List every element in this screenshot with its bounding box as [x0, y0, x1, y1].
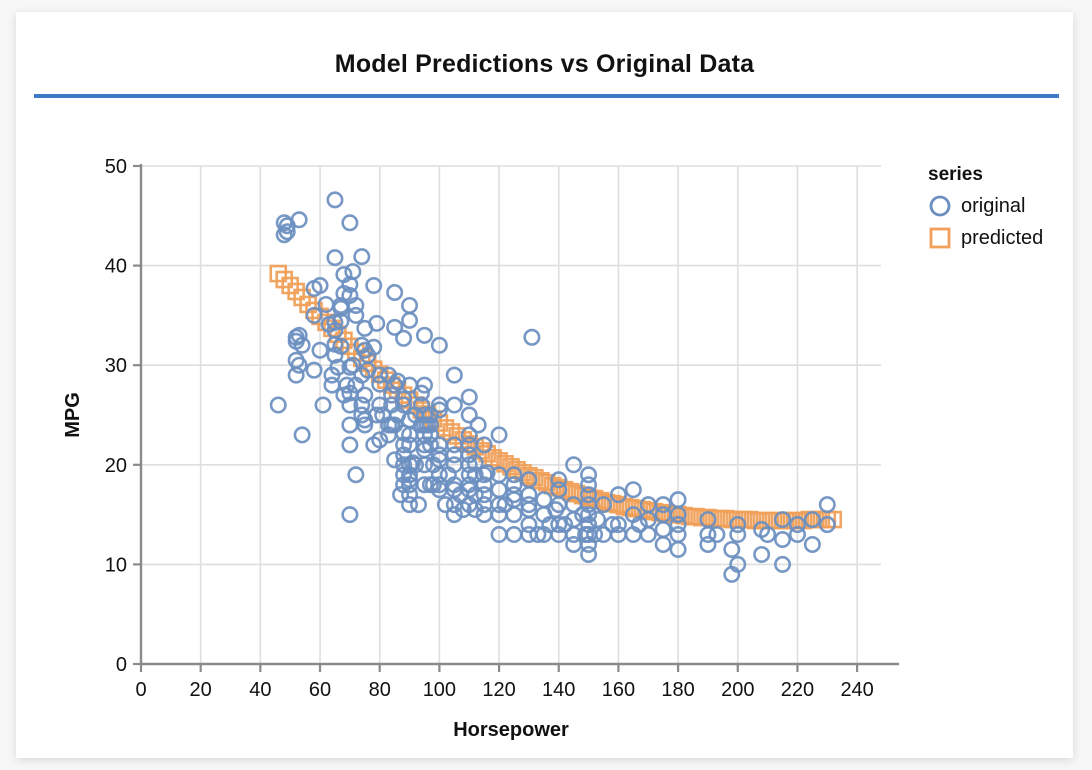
chart-card: Model Predictions vs Original Data 01020… — [16, 12, 1073, 758]
svg-text:40: 40 — [249, 679, 271, 701]
chart-legend: seriesoriginalpredicted — [928, 164, 1043, 249]
svg-text:140: 140 — [542, 679, 575, 701]
svg-text:0: 0 — [135, 679, 146, 701]
tick-marks — [133, 166, 857, 672]
svg-text:0: 0 — [116, 654, 127, 676]
title-divider — [34, 94, 1059, 98]
svg-text:predicted: predicted — [961, 227, 1043, 249]
scatter-chart: 0102030405002040608010012014016018020022… — [16, 108, 1073, 758]
svg-text:20: 20 — [190, 679, 212, 701]
svg-text:30: 30 — [105, 355, 127, 377]
svg-text:200: 200 — [721, 679, 754, 701]
tick-labels: 0102030405002040608010012014016018020022… — [105, 156, 874, 701]
svg-text:120: 120 — [482, 679, 515, 701]
svg-text:40: 40 — [105, 256, 127, 278]
svg-text:series: series — [928, 164, 983, 185]
page-title: Model Predictions vs Original Data — [16, 50, 1073, 79]
gridlines — [141, 166, 881, 664]
svg-text:10: 10 — [105, 554, 127, 576]
svg-text:50: 50 — [105, 156, 127, 178]
svg-text:60: 60 — [309, 679, 331, 701]
svg-text:160: 160 — [602, 679, 635, 701]
axes — [141, 164, 899, 664]
svg-text:Horsepower: Horsepower — [453, 719, 569, 741]
svg-text:100: 100 — [423, 679, 456, 701]
svg-text:180: 180 — [661, 679, 694, 701]
svg-text:240: 240 — [840, 679, 873, 701]
svg-text:80: 80 — [369, 679, 391, 701]
svg-text:220: 220 — [781, 679, 814, 701]
svg-text:MPG: MPG — [62, 392, 84, 438]
svg-text:20: 20 — [105, 455, 127, 477]
chart-plot-area: 0102030405002040608010012014016018020022… — [16, 108, 1073, 758]
svg-text:original: original — [961, 195, 1025, 217]
